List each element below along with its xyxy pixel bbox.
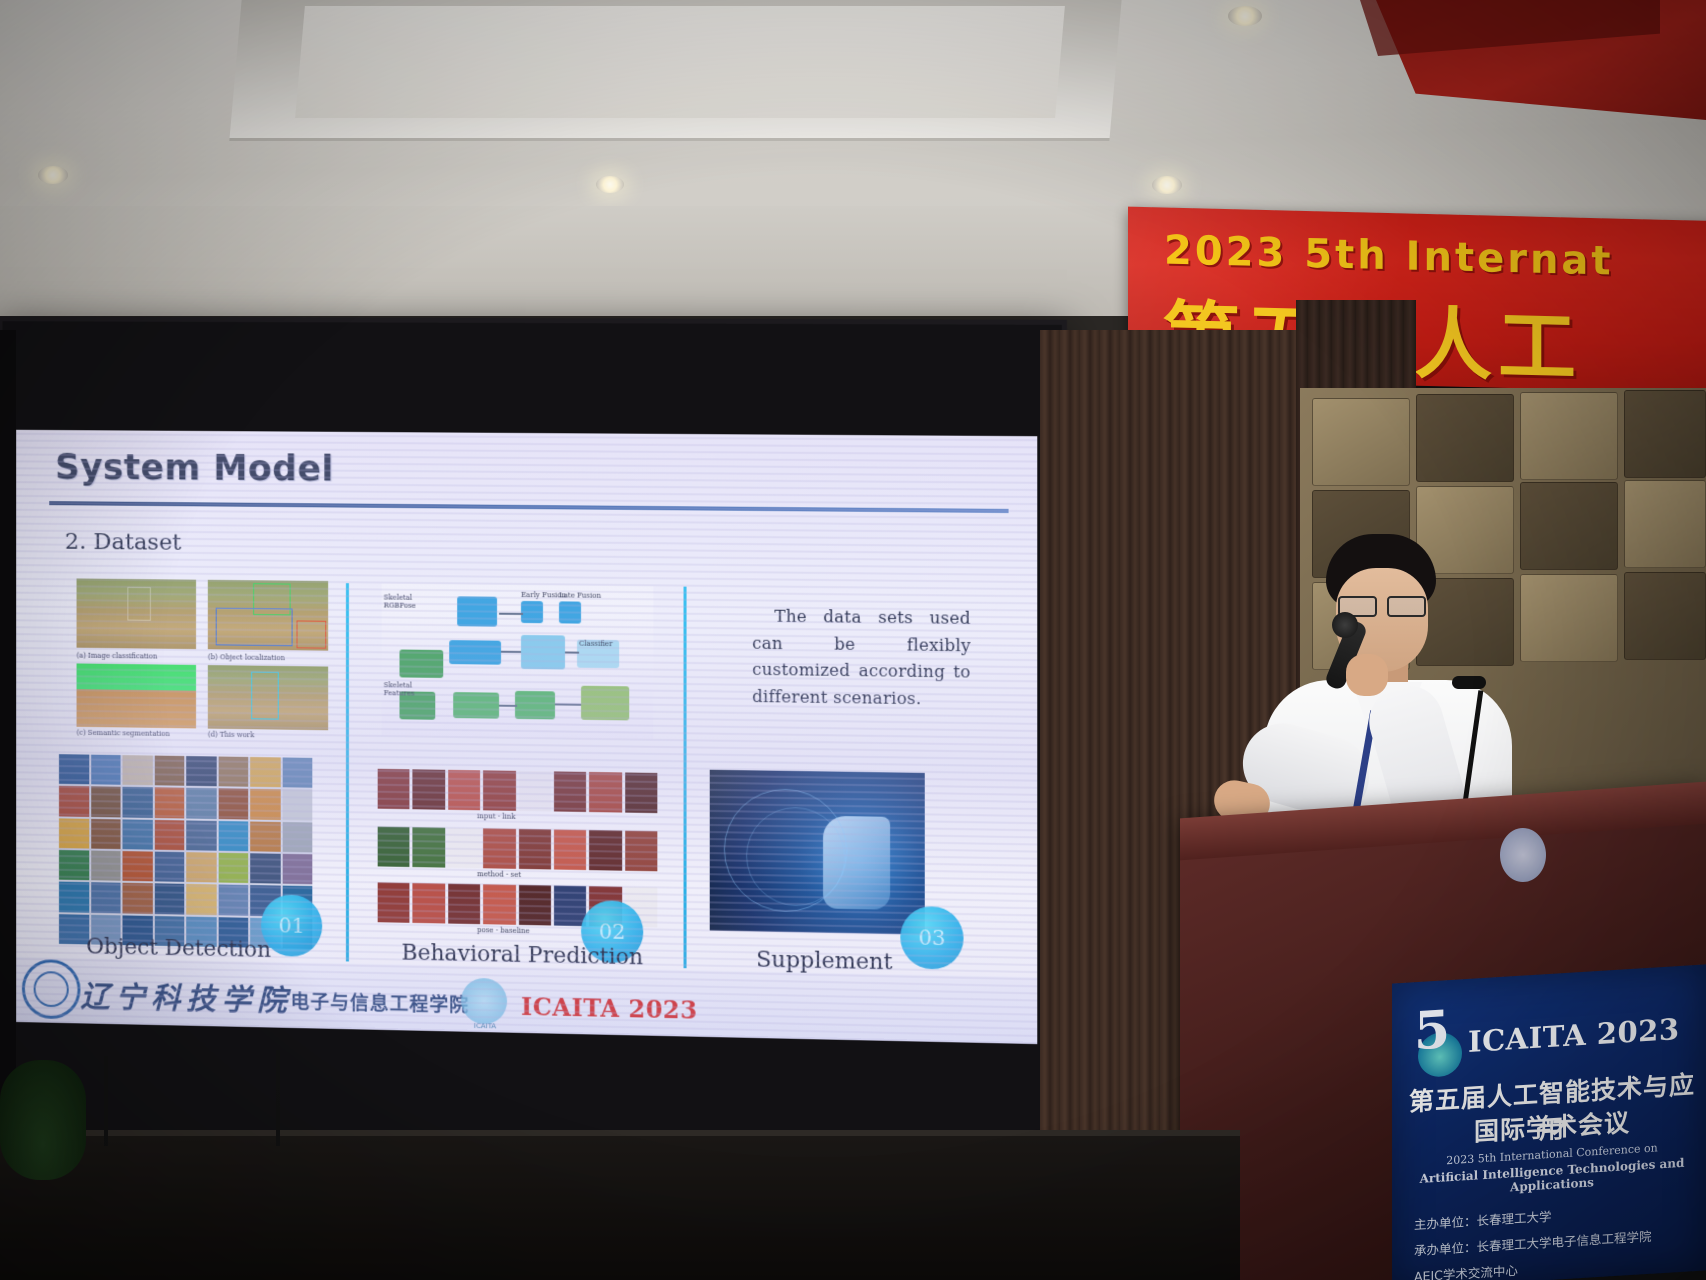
university-logo-icon [22, 959, 81, 1019]
column-divider-1 [346, 583, 349, 961]
title-underline [49, 501, 1008, 513]
panel-tile [1624, 390, 1706, 478]
sign-brand: ICAITA 2023 [1468, 1012, 1680, 1059]
figure-caption-b: (b) Object localization [208, 653, 285, 662]
podium-mic-head-icon [1452, 676, 1486, 689]
downlight-2 [596, 176, 624, 193]
column-divider-2 [684, 587, 687, 969]
panel-tile [1624, 572, 1706, 660]
diagram-label-skeletal-features: Skeletal Features [384, 681, 415, 697]
figure-caption-a: (a) Image classification [77, 652, 158, 661]
diagram-label-latefusion: Late Fusion [559, 591, 601, 599]
microphone-head-icon [1332, 612, 1358, 638]
behavior-strip-2 [378, 827, 658, 872]
downlight-3 [1152, 176, 1182, 194]
conference-photo-scene: 2023 5th Internat 第五届人工 System Model 2. … [0, 0, 1706, 1280]
sign-edition-number: 5 [1414, 1004, 1450, 1058]
strip-label-2: method - set [477, 870, 521, 879]
diagram-label-classifier: Classifier [579, 640, 612, 648]
icaita-logo-label: ICAITA [459, 1022, 511, 1031]
downlight-4 [1228, 6, 1262, 26]
projection-screen: System Model 2. Dataset (a) Image classi… [0, 316, 1067, 1161]
speaker-glasses-icon [1338, 596, 1426, 613]
strip-label-1: input - link [477, 812, 516, 821]
footer-university-name: 辽宁科技学院 [80, 972, 292, 1020]
panel-tile [1520, 392, 1618, 480]
bbox-blue [216, 608, 293, 647]
stage-plant [0, 1060, 86, 1180]
screen-left-bezel [0, 330, 16, 1140]
skeleton-overlay [251, 672, 279, 720]
floor-mic-stand-1 [104, 1056, 108, 1146]
figure-caption-d: (d) This work [208, 731, 254, 740]
panel-tile [1416, 394, 1514, 482]
panel-tile [1520, 482, 1618, 570]
diagram-label-skeletal: Skeletal RGBPose [384, 594, 416, 610]
stage-floor [0, 1136, 1240, 1280]
panel-tile [1312, 398, 1410, 486]
panel-tile [1520, 574, 1618, 662]
icaita-logo-icon [461, 978, 507, 1025]
panel-tile [1624, 480, 1706, 568]
downlight-1 [38, 166, 68, 184]
slide-body-text: The data sets used can be flexibly custo… [752, 603, 971, 713]
strip-label-3: pose - baseline [477, 926, 530, 935]
slide-title: System Model [55, 448, 334, 490]
presentation-slide: System Model 2. Dataset (a) Image classi… [16, 430, 1037, 1044]
slide-section-label: 2. Dataset [65, 529, 182, 556]
step-number-03: 03 [900, 906, 963, 970]
figure-image-classification [77, 578, 196, 649]
behavior-strip-1 [378, 769, 658, 813]
figure-object-localization [208, 580, 328, 651]
ceiling-recess-inner [295, 6, 1065, 118]
lectern-conference-sign: 5 ICAITA 2023 第五届人工智能技术与应用 国际学术会议 2023 5… [1392, 964, 1706, 1280]
model-architecture-diagram [382, 584, 654, 739]
figure-semantic-segmentation [77, 663, 196, 728]
figure-caption-c: (c) Semantic segmentation [77, 729, 170, 738]
footer-conference-name: ICAITA 2023 [521, 992, 698, 1025]
floor-mic-stand-2 [276, 1050, 280, 1146]
figure-this-work [208, 665, 328, 730]
footer-college-name: 电子与信息工程学院 [291, 987, 470, 1018]
speaker-right-hand [1346, 654, 1388, 696]
lectern-emblem-icon [1500, 828, 1546, 882]
person-box-a [127, 587, 151, 621]
supplement-image [710, 770, 925, 935]
bbox-red [297, 620, 327, 648]
